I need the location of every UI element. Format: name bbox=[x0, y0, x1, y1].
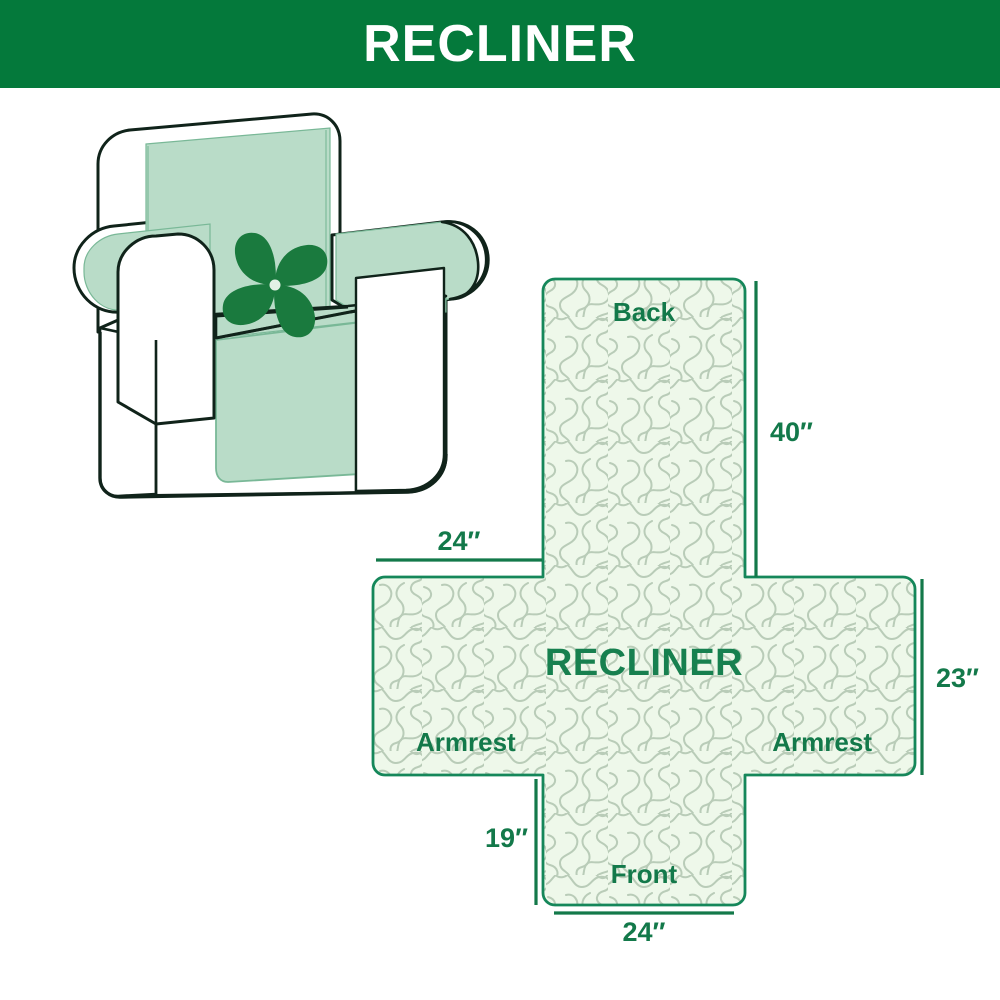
dimension-front-height: 19″ bbox=[485, 779, 536, 905]
dimension-back-height: 40″ bbox=[756, 281, 813, 577]
svg-text:19″: 19″ bbox=[485, 823, 528, 853]
dimension-front-width: 24″ bbox=[554, 913, 734, 947]
diagram-center-label: RECLINER bbox=[545, 642, 743, 684]
svg-text:23″: 23″ bbox=[936, 663, 979, 693]
panel-label-armrest-right: Armrest bbox=[772, 727, 872, 757]
page-root: RECLINER bbox=[0, 0, 1000, 1000]
svg-text:24″: 24″ bbox=[623, 917, 666, 947]
dimension-seat-height: 23″ bbox=[922, 579, 979, 775]
svg-text:24″: 24″ bbox=[438, 526, 481, 556]
dimension-armrest-width: 24″ bbox=[376, 526, 542, 560]
header-banner: RECLINER bbox=[0, 0, 1000, 88]
panel-label-back: Back bbox=[613, 297, 676, 327]
svg-text:40″: 40″ bbox=[770, 417, 813, 447]
panel-label-front: Front bbox=[611, 859, 678, 889]
cover-cross-shape bbox=[373, 279, 915, 905]
panel-label-armrest-left: Armrest bbox=[416, 727, 516, 757]
cover-layout-diagram: Back RECLINER Armrest Armrest Front 40″ … bbox=[360, 255, 1000, 955]
page-title: RECLINER bbox=[363, 18, 637, 70]
